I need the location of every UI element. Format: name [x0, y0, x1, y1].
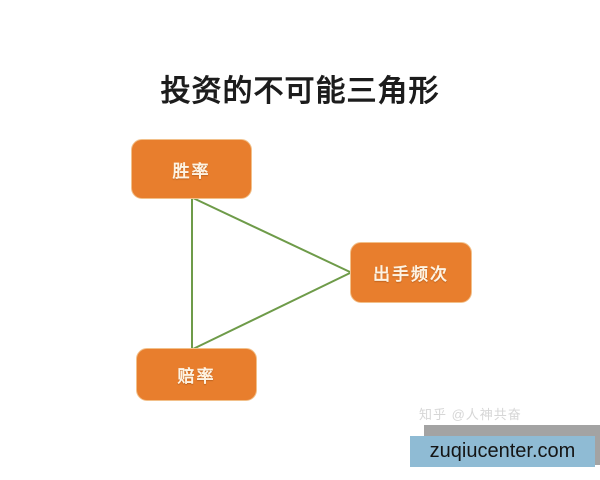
- page-title: 投资的不可能三角形: [0, 72, 600, 112]
- edge-winrate-frequency: [193, 198, 350, 272]
- diagram-canvas: 投资的不可能三角形 胜率 赔率 出手频次 知乎 @人神共奋 zuqiucente…: [0, 0, 600, 480]
- node-odds[interactable]: 赔率: [136, 348, 257, 401]
- node-frequency-label: 出手频次: [373, 260, 449, 285]
- node-frequency[interactable]: 出手频次: [350, 242, 472, 303]
- node-winrate[interactable]: 胜率: [131, 139, 252, 199]
- node-winrate-label: 胜率: [173, 157, 211, 182]
- zhihu-watermark: 知乎 @人神共奋: [419, 404, 522, 423]
- site-badge-label: zuqiucenter.com: [430, 440, 576, 463]
- edge-odds-frequency: [193, 273, 350, 349]
- node-odds-label: 赔率: [178, 362, 216, 387]
- site-badge: zuqiucenter.com: [410, 436, 595, 467]
